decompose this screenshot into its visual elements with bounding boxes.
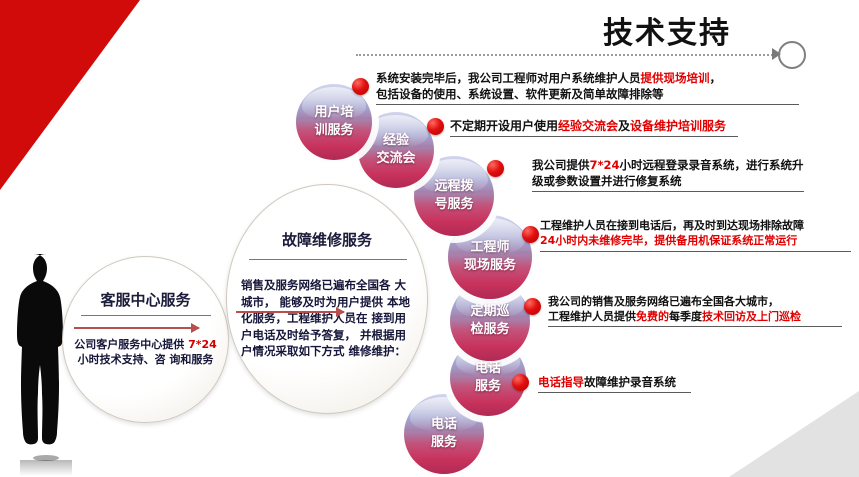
note-text: 每季度 (669, 310, 702, 323)
sphere-label-line: 检服务 (450, 321, 530, 339)
note-phone-guidance: 电话指导故障维护录音系统 (538, 374, 676, 390)
hub-body-line3: 询和服务 (169, 353, 213, 366)
sphere-label: 工程师 现场服务 (448, 239, 532, 275)
sphere-label-line: 号服务 (414, 196, 494, 214)
hub-body-highlight: 7*24 (188, 338, 217, 351)
hub-customer-service-center[interactable]: 客服中心服务 公司客户服务中心提供 7*24小时技术支持、咨 询和服务 (62, 256, 229, 423)
sphere-label-line: 用户培 (296, 104, 372, 122)
bullet-marker-remote (487, 160, 504, 177)
sphere-label: 电话 服务 (404, 416, 484, 452)
sphere-label-line: 定期巡 (450, 303, 530, 321)
note-line: 包括设备的使用、系统设置、软件更新及简单故障排除等 (376, 86, 721, 102)
note-line-highlight: 24小时内未维修完毕，提供备用机保证系统正常运行 (540, 233, 804, 248)
hub-divider (249, 259, 407, 260)
note-line: 我公司提供7*24小时远程登录录音系统，进行系统升 (532, 157, 804, 173)
note-highlight: 电话指导 (538, 375, 584, 389)
note-text: 系统安装完毕后，我公司工程师对用户系统维护人员 (376, 71, 641, 85)
note-line: 电话指导故障维护录音系统 (538, 374, 676, 390)
note-underline (532, 191, 804, 192)
sphere-label-line: 电话 (450, 360, 526, 378)
note-text: 我公司提供 (532, 158, 590, 172)
note-exchange: 不定期开设用户使用经验交流会及设备维护培训服务 (450, 118, 726, 134)
note-highlight: 7*24 (590, 158, 620, 172)
note-text: ， (710, 71, 722, 85)
note-regular-inspection: 我公司的销售及服务网络已遍布全国各大城市， 工程维护人员提供免费的每季度技术回访… (548, 294, 801, 324)
note-highlight: 免费的 (636, 310, 669, 323)
sphere-label-line: 服务 (450, 378, 526, 396)
sphere-label-line: 服务 (404, 434, 484, 452)
note-line: 不定期开设用户使用经验交流会及设备维护培训服务 (450, 118, 726, 134)
sphere-label-line: 远程拨 (414, 178, 494, 196)
note-highlight: 提供现场培训 (641, 71, 710, 85)
note-line: 工程维护人员在接到电话后，再及时到达现场排除故障 (540, 218, 804, 233)
note-line: 我公司的销售及服务网络已遍布全国各大城市， (548, 294, 801, 309)
hub-fault-repair-service[interactable]: 故障维修服务 销售及服务网络已遍布全国各 大城市， 能够及时为用户提供 本地化服… (226, 184, 428, 414)
note-highlight: 设备维护培训服务 (630, 119, 726, 133)
note-text: 工程维护人员提供 (548, 310, 636, 323)
sphere-label-line: 交流会 (358, 150, 434, 168)
sphere-label: 定期巡 检服务 (450, 303, 530, 339)
circle-outline-icon (778, 41, 806, 69)
sphere-label-line: 工程师 (448, 239, 532, 257)
note-highlight: 经验交流会 (558, 119, 618, 133)
flow-arrow-to-services (236, 311, 344, 313)
hub-body-customer-service: 公司客户服务中心提供 7*24小时技术支持、咨 询和服务 (69, 337, 222, 367)
hub-body-line2: 小时技术支持、咨 (78, 353, 166, 366)
sphere-label: 远程拨 号服务 (414, 178, 494, 214)
red-corner-decoration (0, 0, 140, 190)
note-underline (540, 251, 851, 252)
note-underline (376, 104, 799, 105)
note-text: 不定期开设用户使用 (450, 119, 558, 133)
hub-divider (81, 315, 211, 316)
flow-arrow-into-center (74, 327, 199, 329)
slide-canvas: 技术支持 客服中心服务 公司客户服务中心提供 7*24小时技术支持、咨 询和服务… (0, 0, 859, 477)
hub-body-line: 销售及服务网络已遍布全国各 (241, 278, 391, 292)
note-engineer-onsite: 工程维护人员在接到电话后，再及时到达现场排除故障 24小时内未维修完毕，提供备用… (540, 218, 804, 248)
note-line: 系统安装完毕后，我公司工程师对用户系统维护人员提供现场培训， (376, 70, 721, 86)
gray-corner-decoration (729, 391, 859, 477)
sphere-label: 用户培 训服务 (296, 104, 372, 140)
note-text: 及 (618, 119, 630, 133)
note-text: 故障维护录音系统 (584, 375, 676, 389)
note-remote-dialup: 我公司提供7*24小时远程登录录音系统，进行系统升 级或参数设置并进行修复系统 (532, 157, 804, 189)
sphere-label-line: 训服务 (296, 122, 372, 140)
sphere-label-line: 电话 (404, 416, 484, 434)
note-underline (538, 392, 691, 393)
bullet-marker-training (352, 78, 369, 95)
note-text: 小时远程登录录音系统，进行系统升 (620, 158, 804, 172)
sphere-label-line: 现场服务 (448, 257, 532, 275)
hub-body-fault-repair: 销售及服务网络已遍布全国各 大城市， 能够及时为用户提供 本地化服务，工程维护人… (241, 277, 417, 360)
sphere-label: 电话 服务 (450, 360, 526, 396)
note-highlight: 技术回访及上门巡检 (702, 310, 801, 323)
hub-body-line1: 公司客户服务中心提供 (74, 338, 184, 351)
note-line: 级或参数设置并进行修复系统 (532, 173, 804, 189)
title-dotted-line (356, 54, 776, 56)
hub-title-customer-service: 客服中心服务 (63, 289, 228, 310)
hub-body-line: 维修维护： (349, 344, 407, 358)
page-title: 技术支持 (603, 8, 731, 52)
note-underline (548, 326, 842, 327)
note-training: 系统安装完毕后，我公司工程师对用户系统维护人员提供现场培训， 包括设备的使用、系… (376, 70, 721, 102)
note-line: 工程维护人员提供免费的每季度技术回访及上门巡检 (548, 309, 801, 324)
note-underline (450, 136, 738, 137)
hub-title-fault-repair: 故障维修服务 (227, 229, 427, 250)
